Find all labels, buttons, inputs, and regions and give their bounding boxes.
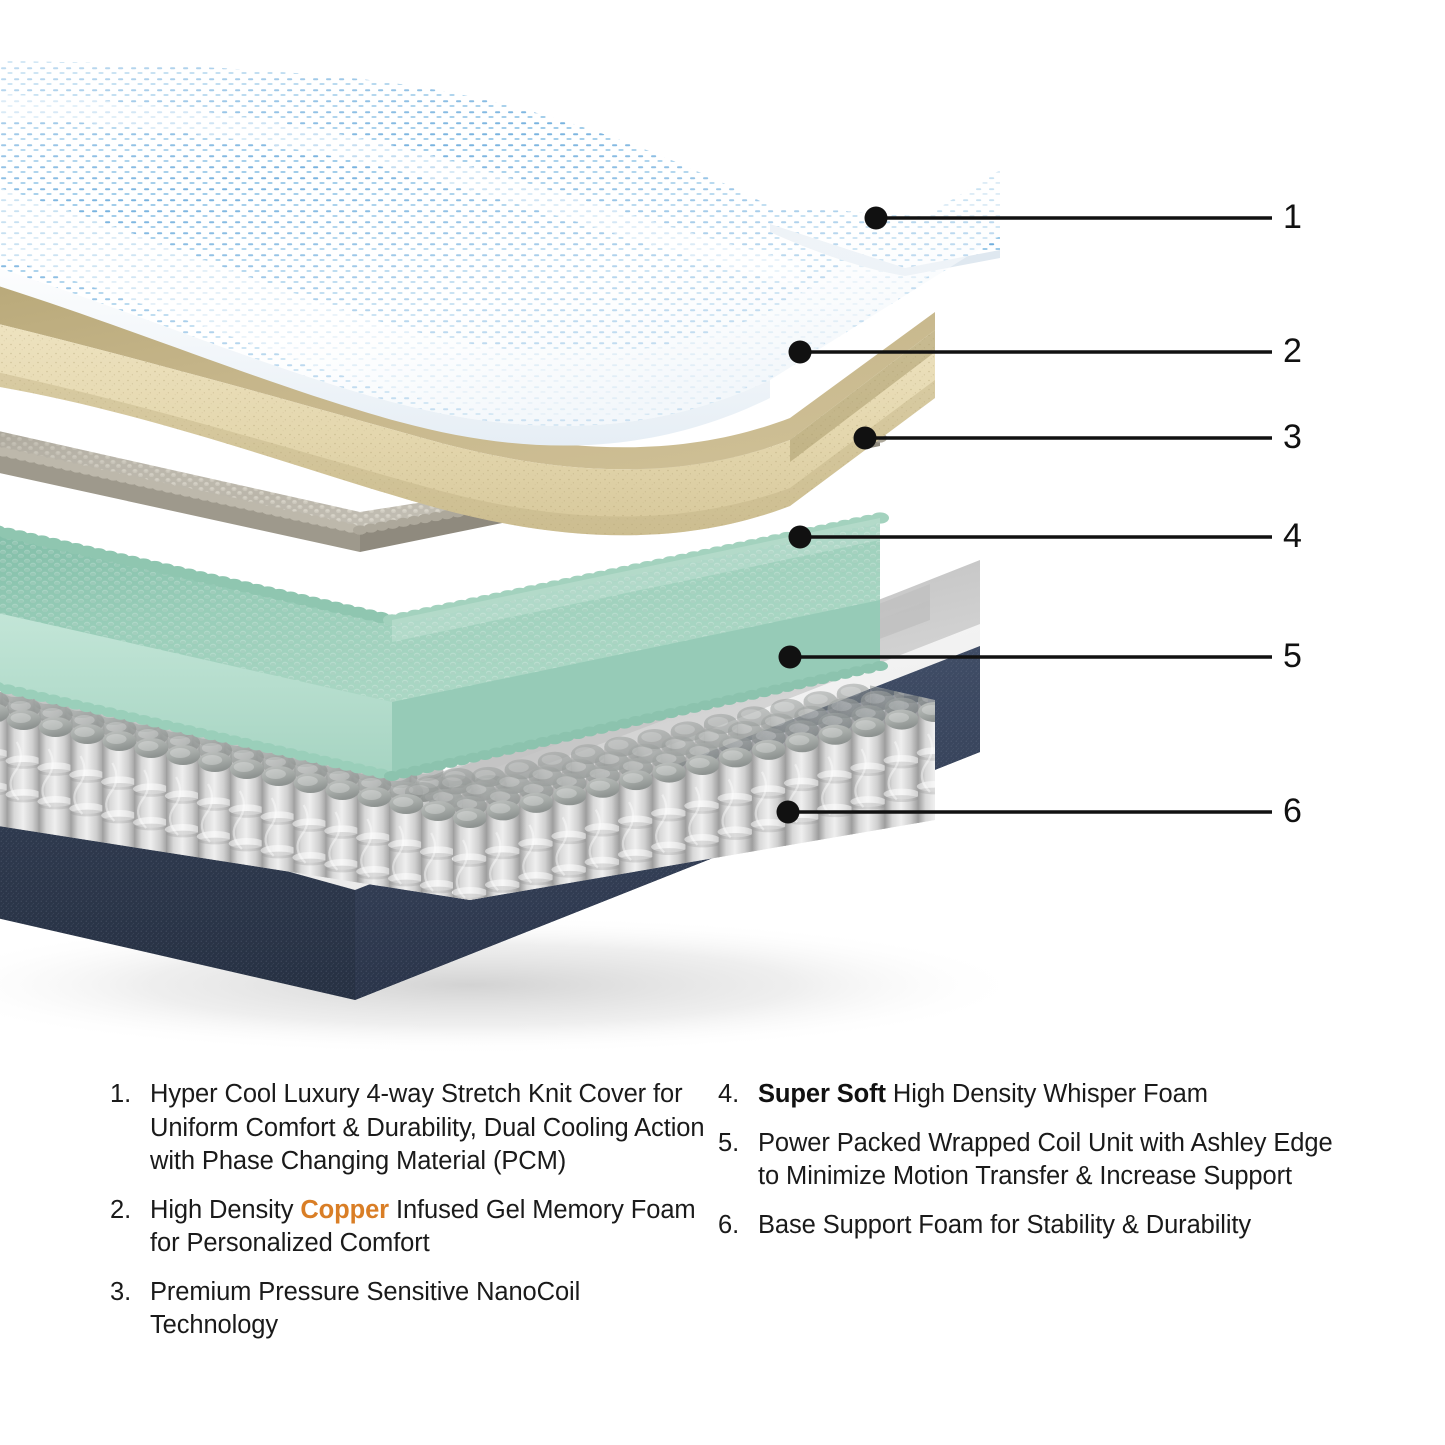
legend-text-run: Premium Pressure Sensitive NanoCoil Tech…: [150, 1278, 580, 1340]
legend-text-run: Hyper Cool Luxury 4-way Stretch Knit Cov…: [150, 1080, 704, 1175]
legend-item-right-3: 6.Base Support Foam for Stability & Dura…: [718, 1209, 1338, 1243]
legend-item-text: Premium Pressure Sensitive NanoCoil Tech…: [150, 1278, 580, 1340]
legend-item-number: 4.: [718, 1078, 752, 1112]
callout-number-6: 6: [1283, 794, 1302, 828]
legend-item-left-1: 1.Hyper Cool Luxury 4-way Stretch Knit C…: [110, 1078, 710, 1179]
callout-dot-3: [854, 427, 877, 450]
legend-item-right-2: 5.Power Packed Wrapped Coil Unit with As…: [718, 1127, 1338, 1194]
callout-number-5: 5: [1283, 639, 1302, 673]
legend-item-text: Hyper Cool Luxury 4-way Stretch Knit Cov…: [150, 1080, 704, 1175]
legend-text-run: Power Packed Wrapped Coil Unit with Ashl…: [758, 1129, 1333, 1191]
legend-item-number: 3.: [110, 1276, 144, 1310]
callout-dot-4: [789, 526, 812, 549]
legend-item-left-3: 3.Premium Pressure Sensitive NanoCoil Te…: [110, 1276, 710, 1343]
callout-number-3: 3: [1283, 420, 1302, 454]
legend-item-number: 5.: [718, 1127, 752, 1161]
legend-column-left: 1.Hyper Cool Luxury 4-way Stretch Knit C…: [110, 1078, 710, 1358]
legend-item-text: High Density Copper Infused Gel Memory F…: [150, 1196, 696, 1258]
callout-dot-1: [865, 207, 888, 230]
legend-item-text: Super Soft High Density Whisper Foam: [758, 1080, 1208, 1108]
mattress-cutaway-illustration: 1 2 3 4 5 6: [0, 0, 1445, 1060]
legend-item-text: Power Packed Wrapped Coil Unit with Ashl…: [758, 1129, 1333, 1191]
legend-item-number: 2.: [110, 1194, 144, 1228]
legend-text-run: High Density Whisper Foam: [886, 1080, 1208, 1108]
callout-dot-6: [777, 801, 800, 824]
callout-number-2: 2: [1283, 334, 1302, 368]
legend-text-run: High Density: [150, 1196, 300, 1224]
callout-number-1: 1: [1283, 200, 1302, 234]
legend-item-number: 1.: [110, 1078, 144, 1112]
legend-item-right-1: 4.Super Soft High Density Whisper Foam: [718, 1078, 1338, 1112]
legend-text-run: Base Support Foam for Stability & Durabi…: [758, 1211, 1251, 1239]
callout-dot-2: [789, 341, 812, 364]
legend-emphasis-bold: Super Soft: [758, 1080, 886, 1108]
legend: 1.Hyper Cool Luxury 4-way Stretch Knit C…: [0, 1078, 1445, 1445]
legend-item-text: Base Support Foam for Stability & Durabi…: [758, 1211, 1251, 1239]
legend-item-number: 6.: [718, 1209, 752, 1243]
legend-item-left-2: 2.High Density Copper Infused Gel Memory…: [110, 1194, 710, 1261]
callout-dot-5: [779, 646, 802, 669]
legend-emphasis-copper: Copper: [300, 1196, 389, 1224]
diagram-stage: 1 2 3 4 5 6 1.Hyper Cool Luxury 4-way St…: [0, 0, 1445, 1445]
legend-column-right: 4.Super Soft High Density Whisper Foam5.…: [718, 1078, 1338, 1257]
callout-number-4: 4: [1283, 519, 1302, 553]
